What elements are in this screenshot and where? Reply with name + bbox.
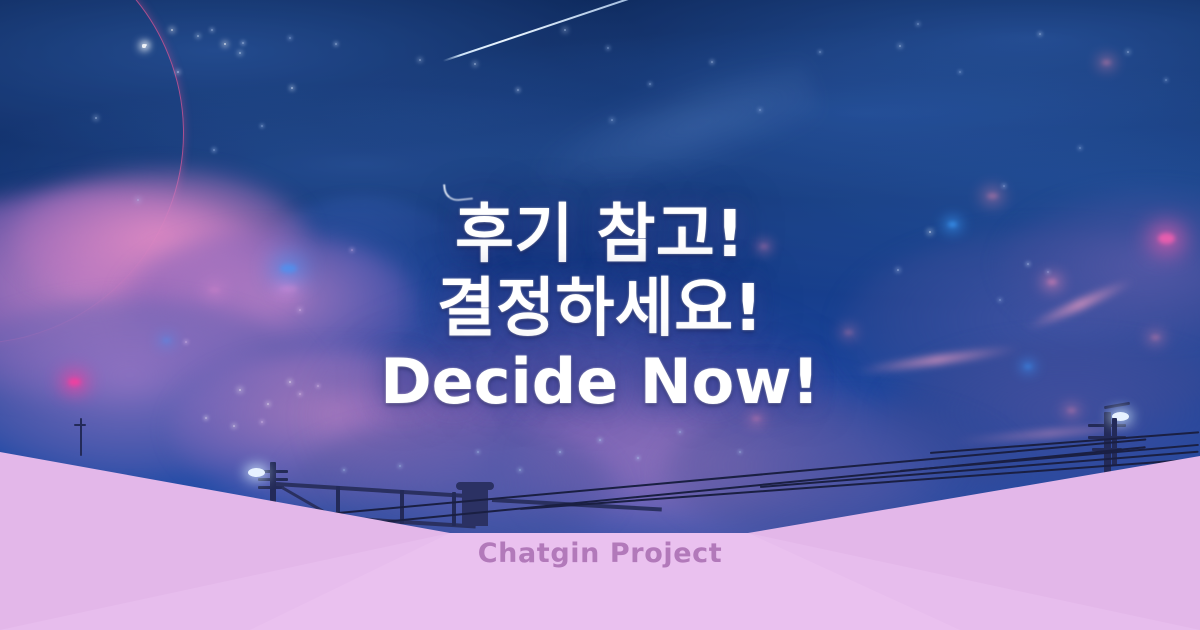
brand-label: Chatgin Project	[0, 538, 1200, 569]
promo-banner: 후기 참고! 결정하세요! Decide Now! Chatgin Projec…	[0, 0, 1200, 630]
rooftop-foreground	[0, 0, 1200, 630]
